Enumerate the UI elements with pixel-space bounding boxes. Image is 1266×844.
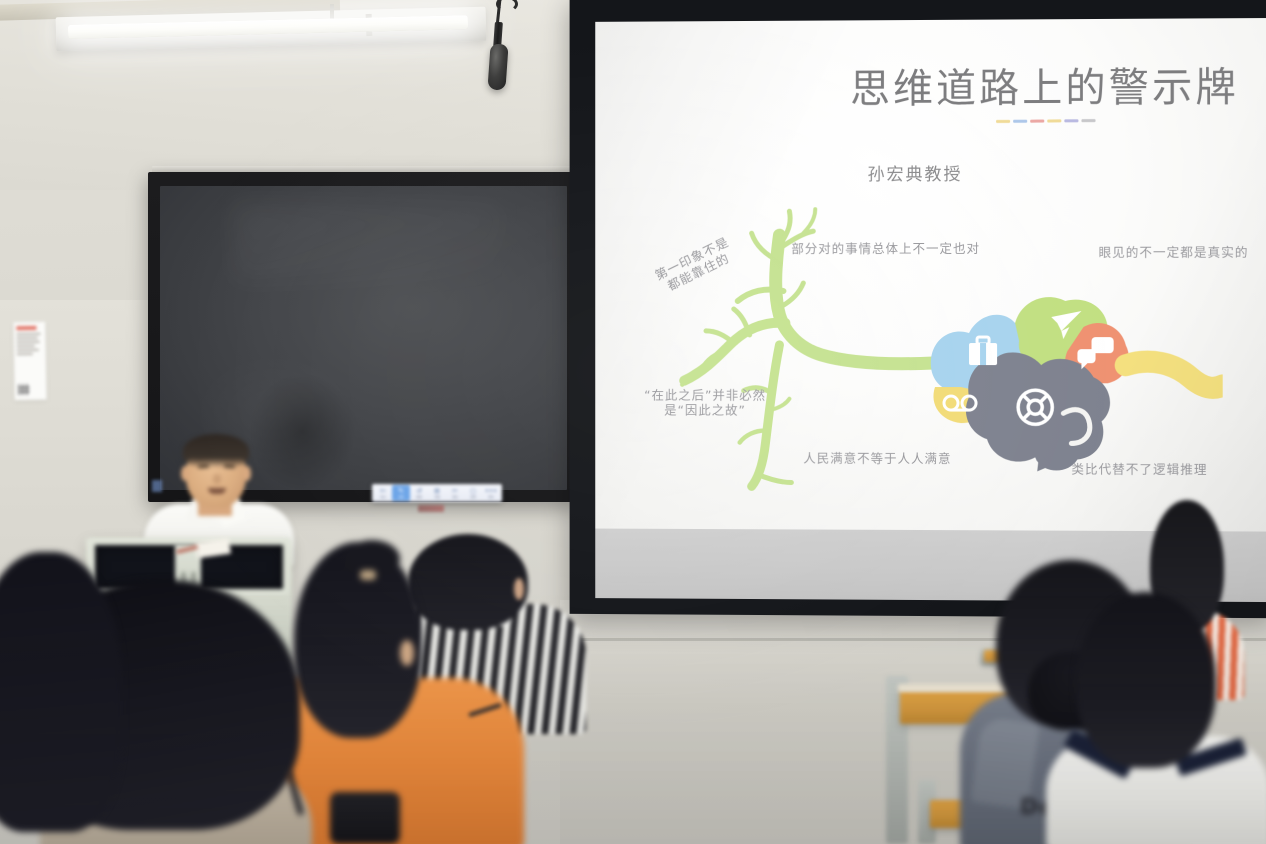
toolbar-label: 页面 bbox=[434, 496, 439, 499]
student-hair bbox=[1076, 592, 1216, 768]
qr-code-icon bbox=[18, 384, 29, 395]
toolbar-label: 书写 bbox=[398, 496, 403, 499]
hanging-microphone bbox=[487, 43, 508, 90]
notice-line bbox=[17, 345, 35, 347]
notice-line bbox=[17, 337, 38, 339]
pages-icon: ⊞ bbox=[434, 488, 440, 495]
toolbar-button-annotate[interactable]: ✄ 批注 bbox=[374, 485, 392, 501]
toolbar-button-select[interactable]: ○ 选择 bbox=[464, 485, 482, 501]
notice-line bbox=[17, 349, 39, 351]
toolbar-label: 更多 bbox=[488, 496, 493, 499]
screen-glare bbox=[233, 204, 502, 283]
professor-ear-left bbox=[181, 466, 189, 481]
hair-tie bbox=[360, 570, 376, 580]
toolbar-button-write[interactable]: ✎ 书写 bbox=[392, 485, 410, 501]
toolbar-button-undo[interactable]: ↺ 撤销 bbox=[410, 485, 428, 501]
whiteboard-toolbar[interactable]: ✄ 批注 ✎ 书写 ↺ 撤销 ⊞ 页面 ✂ 裁剪 ○ 选择 ••• 更多 bbox=[372, 484, 502, 502]
toolbar-label: 裁剪 bbox=[452, 496, 457, 499]
notice-line bbox=[17, 333, 41, 335]
annotate-icon: ✄ bbox=[380, 488, 386, 495]
student-white-collar bbox=[1046, 598, 1266, 844]
professor-ear-right bbox=[243, 466, 251, 481]
notice-line bbox=[17, 341, 40, 343]
more-icon: ••• bbox=[485, 488, 497, 495]
select-icon: ○ bbox=[470, 488, 476, 495]
toolbar-label: 批注 bbox=[380, 496, 385, 499]
student-ear bbox=[400, 640, 414, 666]
pen-icon: ✎ bbox=[398, 488, 404, 495]
toolbar-label: 撤销 bbox=[416, 496, 421, 499]
toolbar-label: 选择 bbox=[470, 496, 475, 499]
whiteboard-brand-logo bbox=[418, 505, 444, 512]
notice-header-bar bbox=[16, 326, 36, 330]
student-hair bbox=[0, 552, 122, 832]
toolbar-button-more[interactable]: ••• 更多 bbox=[482, 485, 500, 501]
professor-nose bbox=[213, 474, 221, 484]
toolbar-button-crop[interactable]: ✂ 裁剪 bbox=[446, 485, 464, 501]
student-left-edge bbox=[0, 552, 122, 844]
professor-hair bbox=[183, 434, 249, 468]
student-bag bbox=[330, 792, 400, 844]
scissors-icon: ✂ bbox=[452, 488, 458, 495]
lecture-hall-photo: ✄ 批注 ✎ 书写 ↺ 撤销 ⊞ 页面 ✂ 裁剪 ○ 选择 ••• 更多 bbox=[0, 0, 1266, 844]
wall-notice bbox=[13, 322, 46, 401]
notice-line bbox=[17, 353, 33, 355]
toolbar-button-pages[interactable]: ⊞ 页面 bbox=[428, 485, 446, 501]
undo-icon: ↺ bbox=[416, 488, 422, 495]
